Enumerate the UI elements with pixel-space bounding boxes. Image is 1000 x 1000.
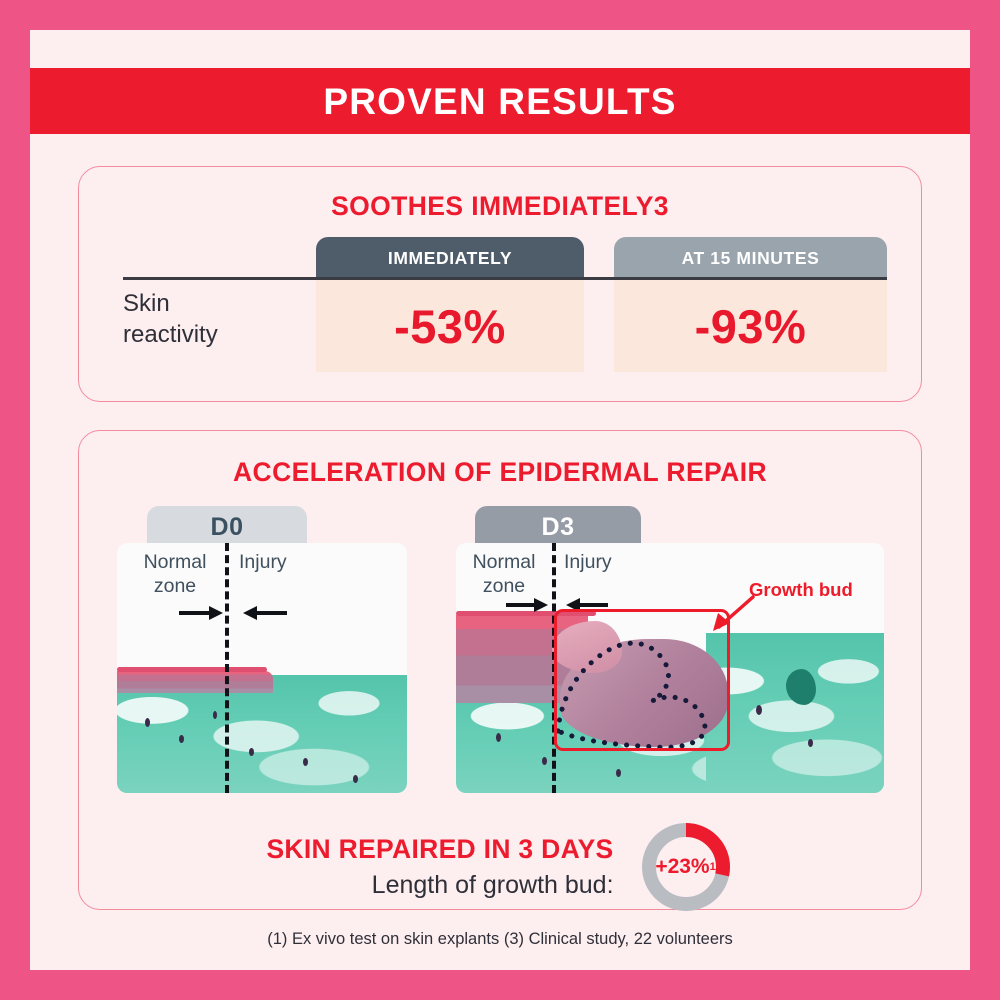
- infographic-page: PROVEN RESULTS SOOTHES IMMEDIATELY3 IMME…: [0, 0, 1000, 1000]
- epidermis-d0: [117, 671, 273, 693]
- column-header-immediately: IMMEDIATELY: [316, 237, 584, 279]
- cell-speck: [213, 711, 217, 719]
- arrow-left-icon: [241, 605, 287, 621]
- day-tab-d0: D0: [147, 506, 307, 548]
- column-header-immediately-label: IMMEDIATELY: [388, 248, 512, 269]
- value-cell-at-15-minutes: -93%: [614, 280, 887, 372]
- cell-speck: [496, 733, 501, 742]
- arrow-right-icon: [506, 597, 550, 613]
- zone-label-normal-d3: Normalzone: [460, 551, 548, 599]
- cell-speck: [808, 739, 813, 747]
- summary-headline: SKIN REPAIRED IN 3 DAYS: [266, 834, 613, 865]
- growth-bud-label: Growth bud: [749, 579, 853, 601]
- epidermal-repair-card: ACCELERATION OF EPIDERMAL REPAIR D0 Norm…: [78, 430, 922, 910]
- value-at-15-minutes: -93%: [695, 299, 807, 354]
- micrograph-d0: Normalzone Injury: [117, 543, 407, 793]
- summary-subline: Length of growth bud:: [266, 871, 613, 900]
- day-tab-d3: D3: [475, 506, 641, 548]
- cell-speck: [756, 705, 762, 715]
- zone-label-injury-d0: Injury: [239, 551, 287, 575]
- summary-text-block: SKIN REPAIRED IN 3 DAYS Length of growth…: [266, 834, 637, 900]
- cell-speck: [353, 775, 358, 783]
- repair-summary: SKIN REPAIRED IN 3 DAYS Length of growth…: [79, 819, 921, 915]
- arrow-pair-d0: [179, 605, 287, 621]
- injury-divider-d0: [225, 543, 229, 793]
- row-label-skin-reactivity: Skinreactivity: [123, 289, 303, 350]
- donut-superscript: 1: [710, 861, 716, 873]
- cell-speck: [303, 758, 308, 766]
- growth-bud-donut-chart: +23%1: [638, 819, 734, 915]
- column-header-at-15-minutes-label: AT 15 MINUTES: [682, 248, 820, 269]
- growth-bud-highlight-box: [554, 609, 730, 751]
- growth-bud-arrow-icon: [707, 593, 757, 633]
- value-cell-immediately: -53%: [316, 280, 584, 372]
- cell-speck: [249, 748, 254, 756]
- footnote: (1) Ex vivo test on skin explants (3) Cl…: [30, 930, 970, 949]
- donut-value: +23%: [655, 855, 709, 879]
- stratum-corneum-d0: [117, 667, 267, 672]
- donut-value-label: +23%1: [638, 819, 734, 915]
- proven-results-banner: PROVEN RESULTS: [30, 68, 970, 134]
- cell-speck: [145, 718, 150, 727]
- cell-speck: [179, 735, 184, 743]
- soothes-title: SOOTHES IMMEDIATELY3: [79, 191, 921, 222]
- repair-title: ACCELERATION OF EPIDERMAL REPAIR: [79, 457, 921, 488]
- cell-speck: [616, 769, 621, 777]
- zone-label-injury-d3: Injury: [564, 551, 612, 575]
- value-immediately: -53%: [394, 299, 506, 354]
- day-tab-d3-label: D3: [542, 513, 575, 542]
- zone-label-normal-d0: Normalzone: [129, 551, 221, 599]
- arrow-right-icon: [179, 605, 225, 621]
- day-tab-d0-label: D0: [211, 513, 244, 542]
- banner-title: PROVEN RESULTS: [323, 83, 676, 120]
- column-header-at-15-minutes: AT 15 MINUTES: [614, 237, 887, 279]
- soothes-card: SOOTHES IMMEDIATELY3 IMMEDIATELY AT 15 M…: [78, 166, 922, 402]
